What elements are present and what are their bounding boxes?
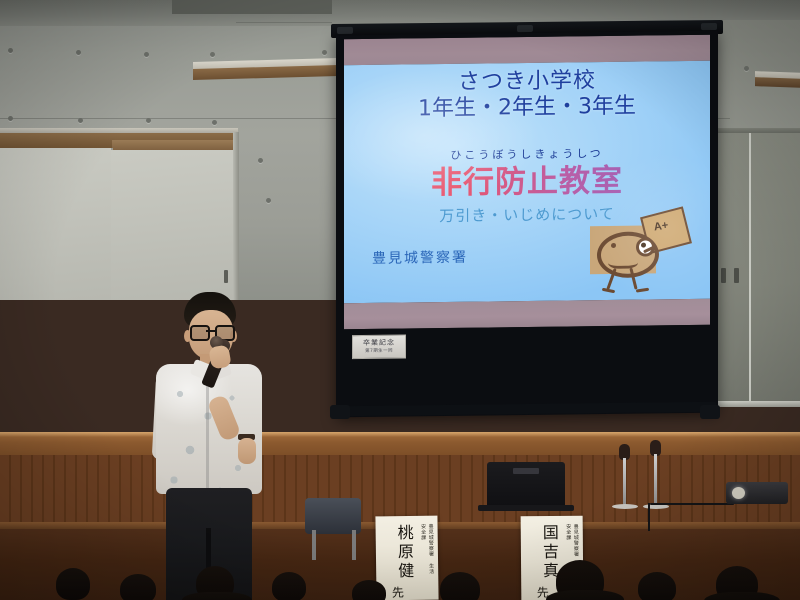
laptop-logo-icon	[513, 468, 539, 474]
housing-center-bracket	[517, 25, 533, 32]
form-tie-hole	[744, 66, 749, 71]
concrete-seam	[236, 22, 332, 23]
right-sliding-door-b[interactable]	[751, 133, 800, 403]
audience-shoulders	[546, 590, 624, 600]
plaque-line-1: 卒業記念	[353, 337, 405, 348]
chair-leg	[352, 530, 356, 560]
plaque-line-2: 第7期生一同	[353, 347, 405, 354]
door-frame	[233, 132, 239, 300]
housing-end-cap	[337, 27, 353, 34]
door-sill	[714, 401, 800, 407]
commemorative-plaque: 卒業記念 第7期生一同	[352, 334, 406, 359]
placard-given-name: 健	[386, 562, 412, 581]
projector-cable-drop	[648, 503, 650, 531]
sliding-panel-right[interactable]	[111, 150, 237, 300]
form-tie-hole	[266, 198, 271, 203]
projected-slide: さつき小学校 1年生・2年生・3年生 ひこうぼうしきょうしつ 非行防止教室 万引…	[344, 35, 710, 329]
form-tie-hole	[76, 50, 81, 55]
speaker-other-hand	[238, 438, 256, 464]
laptop-base	[478, 505, 574, 511]
photograph: さつき小学校 1年生・2年生・3年生 ひこうぼうしきょうしつ 非行防止教室 万引…	[0, 0, 800, 600]
chair-leg	[312, 530, 316, 560]
letterbox-band-bottom	[344, 299, 710, 329]
form-tie-hole	[78, 118, 83, 123]
microphone-stand[interactable]	[623, 458, 626, 506]
form-tie-hole	[146, 118, 151, 123]
character-mouth	[608, 254, 638, 269]
form-tie-hole	[144, 52, 149, 57]
form-tie-hole	[8, 116, 13, 121]
microphone-stand-base	[612, 504, 638, 509]
form-tie-hole	[8, 48, 13, 53]
character-eye-dot	[611, 243, 616, 248]
form-tie-hole	[322, 50, 327, 55]
slide-grades-line: 1年生・2年生・3年生	[344, 93, 710, 123]
character-foot	[636, 288, 649, 293]
placard-affiliation: 豊見城警察署 生活安全課	[419, 524, 435, 576]
door-handle-icon[interactable]	[734, 268, 739, 283]
placard-surname: 国吉	[531, 524, 557, 562]
cartoon-character-illustration: A+	[586, 211, 682, 296]
audience-shoulders	[704, 592, 780, 600]
projector[interactable]	[726, 482, 788, 504]
speaker	[148, 292, 278, 600]
microphone-stand[interactable]	[654, 454, 657, 506]
stage-rail-highlight	[0, 432, 800, 437]
laptop[interactable]	[487, 462, 565, 506]
name-placard: 桃原 健 豊見城警察署 生活安全課 先	[375, 516, 438, 600]
form-tie-hole	[210, 52, 215, 57]
ceiling-recess	[172, 0, 332, 14]
form-tie-hole	[258, 158, 263, 163]
screen-stand-foot-right	[700, 405, 720, 419]
placard-given-name: 真	[531, 562, 557, 581]
projector-lens-icon	[732, 487, 745, 499]
audience-head	[352, 580, 386, 600]
placard-honorific: 先	[389, 586, 406, 598]
form-tie-hole	[212, 120, 217, 125]
grade-label: A+	[653, 219, 669, 233]
chair[interactable]	[305, 498, 361, 534]
slide-school-line: さつき小学校	[344, 67, 710, 97]
eyeglasses-icon	[190, 325, 210, 341]
audience-head	[272, 572, 306, 600]
projector-cable	[650, 503, 734, 505]
character-foot	[602, 288, 615, 293]
audience-head	[638, 572, 676, 600]
door-latch-icon[interactable]	[224, 270, 228, 283]
audience-head	[120, 574, 156, 600]
audience-head	[56, 568, 90, 600]
wall-shelf-right-underside	[755, 77, 800, 88]
screen-stand-foot-left	[330, 405, 350, 419]
sliding-panel-left[interactable]	[0, 148, 113, 300]
slide-organization: 豊見城警察署	[372, 250, 468, 267]
placard-surname: 桃原	[386, 524, 413, 562]
audience-shoulders	[182, 592, 252, 600]
audience-head	[440, 572, 480, 600]
projection-screen: さつき小学校 1年生・2年生・3年生 ひこうぼうしきょうしつ 非行防止教室 万引…	[336, 31, 718, 418]
eyeglasses-bridge	[206, 330, 215, 332]
slide-main-title: 非行防止教室	[344, 163, 710, 203]
door-handle-icon[interactable]	[721, 268, 726, 283]
housing-end-cap	[701, 23, 717, 30]
